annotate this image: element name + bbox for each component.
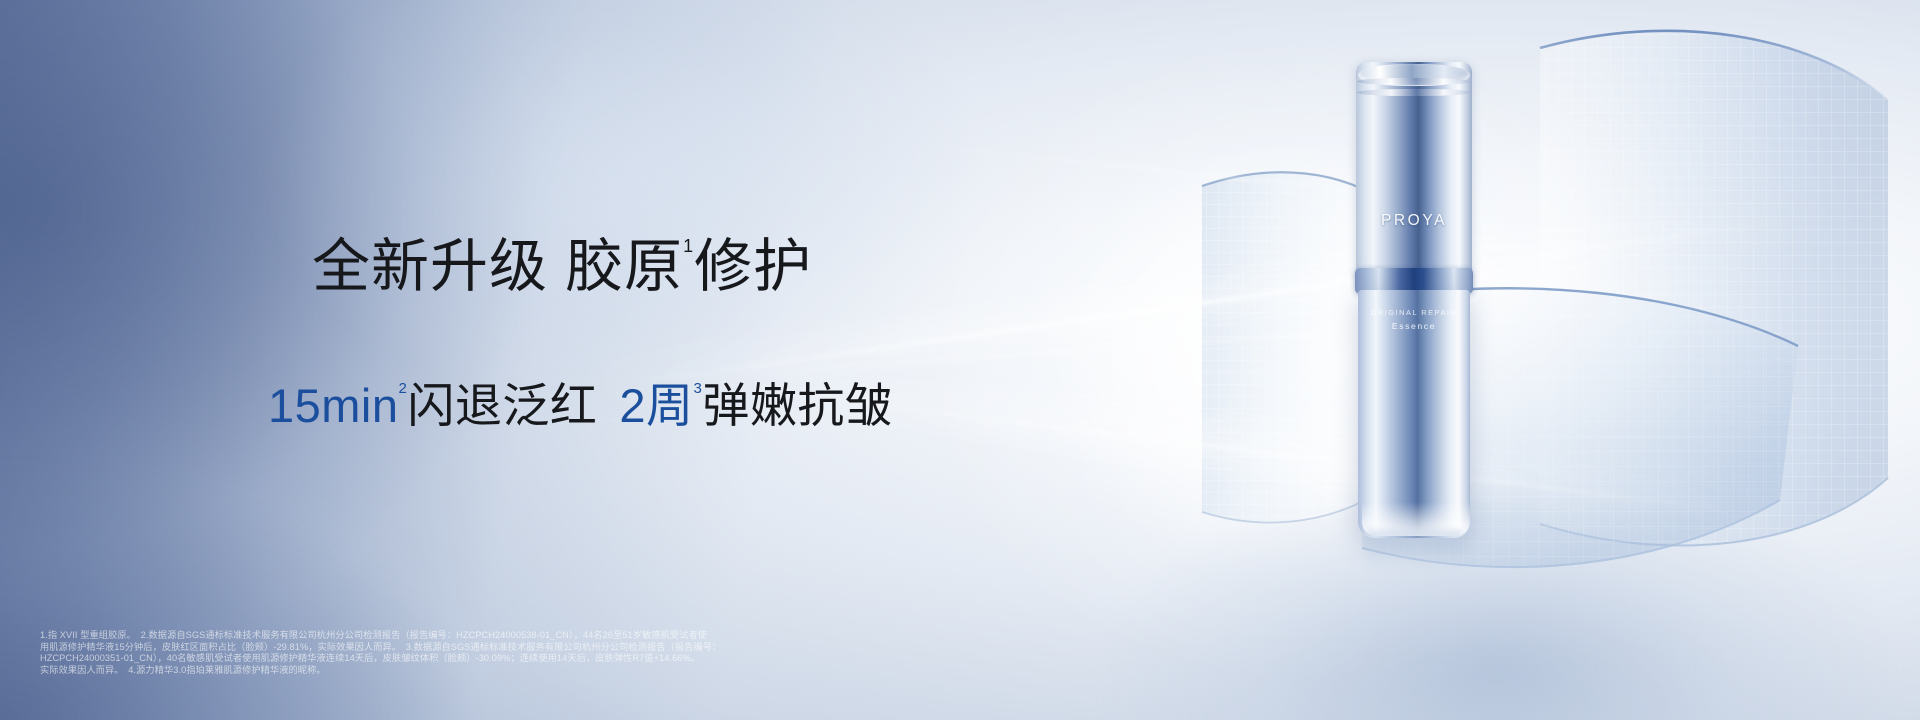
product-scene: PROYA ORIGINAL REPAIR Essence	[1180, 0, 1920, 720]
claim-1-value: 15min	[268, 379, 399, 432]
bottle-brand-label: PROYA	[1356, 212, 1472, 230]
footnote-line-2: 用肌源修护精华液15分钟后，皮肤红区面积占比（脸颊）-29.81%，实际效果因人…	[40, 642, 1100, 654]
footnote-line-3: HZCPCH24000351-01_CN），40名敏感肌受试者使用肌源修护精华液…	[40, 653, 1100, 665]
product-bottle: PROYA ORIGINAL REPAIR Essence	[1356, 62, 1472, 538]
product-banner: PROYA ORIGINAL REPAIR Essence 全新升级 胶原1修护…	[0, 0, 1920, 720]
banner-copy: 全新升级 胶原1修护 15min2闪退泛红2周3弹嫩抗皱 1.指 XVII 型重…	[0, 0, 1100, 720]
subheadline: 15min2闪退泛红2周3弹嫩抗皱	[268, 382, 892, 429]
claim-2-text: 弹嫩抗皱	[702, 379, 892, 432]
footnote-line-1: 1.指 XVII 型重组胶原。 2.数据源自SGS通标标准技术服务有限公司杭州分…	[40, 630, 1100, 642]
bottle-cap-groove-1	[1357, 78, 1471, 85]
claim-1-footnote-marker: 2	[399, 380, 408, 397]
claim-1-text: 闪退泛红	[407, 379, 597, 432]
headline-tail-text: 修护	[694, 234, 812, 299]
footnote-line-4: 实际效果因人而异。 4.源力精华3.0指珀莱雅肌源修护精华液的昵称。	[40, 665, 1100, 677]
bottle-cap-groove-2	[1357, 89, 1471, 96]
bottle-cap	[1356, 62, 1472, 277]
footnotes: 1.指 XVII 型重组胶原。 2.数据源自SGS通标标准技术服务有限公司杭州分…	[40, 630, 1100, 676]
bottle-reflection	[1366, 530, 1462, 586]
bottle-label-line-2: Essence	[1356, 321, 1472, 331]
claim-2-value: 2周	[619, 379, 693, 432]
claim-2-footnote-marker: 3	[694, 380, 703, 397]
headline: 全新升级 胶原1修护	[312, 238, 812, 296]
bottle-label-line-1: ORIGINAL REPAIR	[1356, 308, 1472, 317]
headline-footnote-marker: 1	[683, 236, 693, 256]
headline-main-text: 全新升级 胶原	[312, 234, 683, 299]
